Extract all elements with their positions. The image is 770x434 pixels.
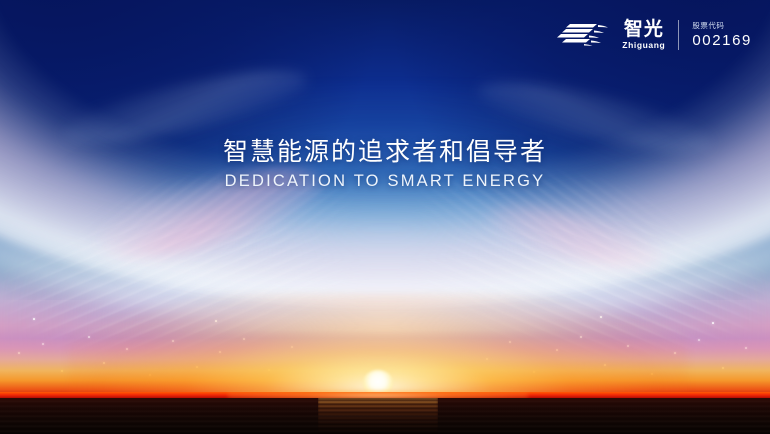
stock-code-label: 股票代码	[692, 22, 752, 30]
hero-banner: 智光 Zhiguang 股票代码 002169 智慧能源的追求者和倡导者 DED…	[0, 0, 770, 434]
stock-code-value: 002169	[692, 33, 752, 48]
brand-name-en: Zhiguang	[622, 41, 665, 50]
brand-name-cn: 智光	[624, 20, 664, 39]
sun-water-reflection	[318, 398, 438, 434]
vertical-divider-icon	[678, 20, 679, 50]
stock-code-block: 股票代码 002169	[692, 22, 752, 48]
brand-name: 智光 Zhiguang	[622, 20, 665, 50]
brand-logo[interactable]: 智光 Zhiguang 股票代码 002169	[555, 20, 752, 50]
zhiguang-speedlines-logo-icon	[555, 21, 611, 49]
